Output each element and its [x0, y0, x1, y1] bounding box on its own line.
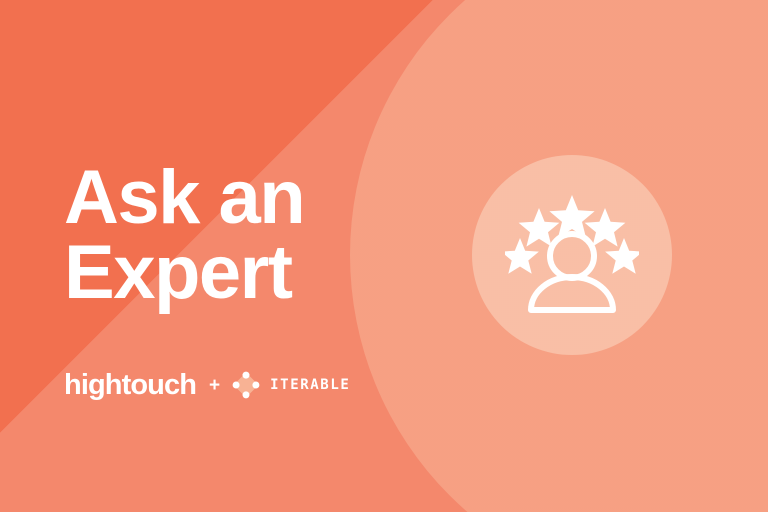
expert-person-five-stars-icon	[505, 190, 639, 316]
brand-lockup: hightouch + ITERABLE	[64, 368, 350, 402]
person-shoulders-icon	[531, 277, 613, 310]
iterable-wordmark: ITERABLE	[270, 378, 350, 392]
ask-an-expert-banner: Ask an Expert hightouch + ITERABLE	[0, 0, 768, 512]
star-icon	[605, 238, 639, 274]
iterable-diamond-icon	[231, 370, 261, 400]
person-head-icon	[550, 234, 594, 278]
hightouch-wordmark: hightouch	[64, 371, 196, 400]
page-title: Ask an Expert	[64, 160, 304, 310]
plus-separator: +	[209, 376, 220, 395]
star-icon	[505, 238, 539, 274]
